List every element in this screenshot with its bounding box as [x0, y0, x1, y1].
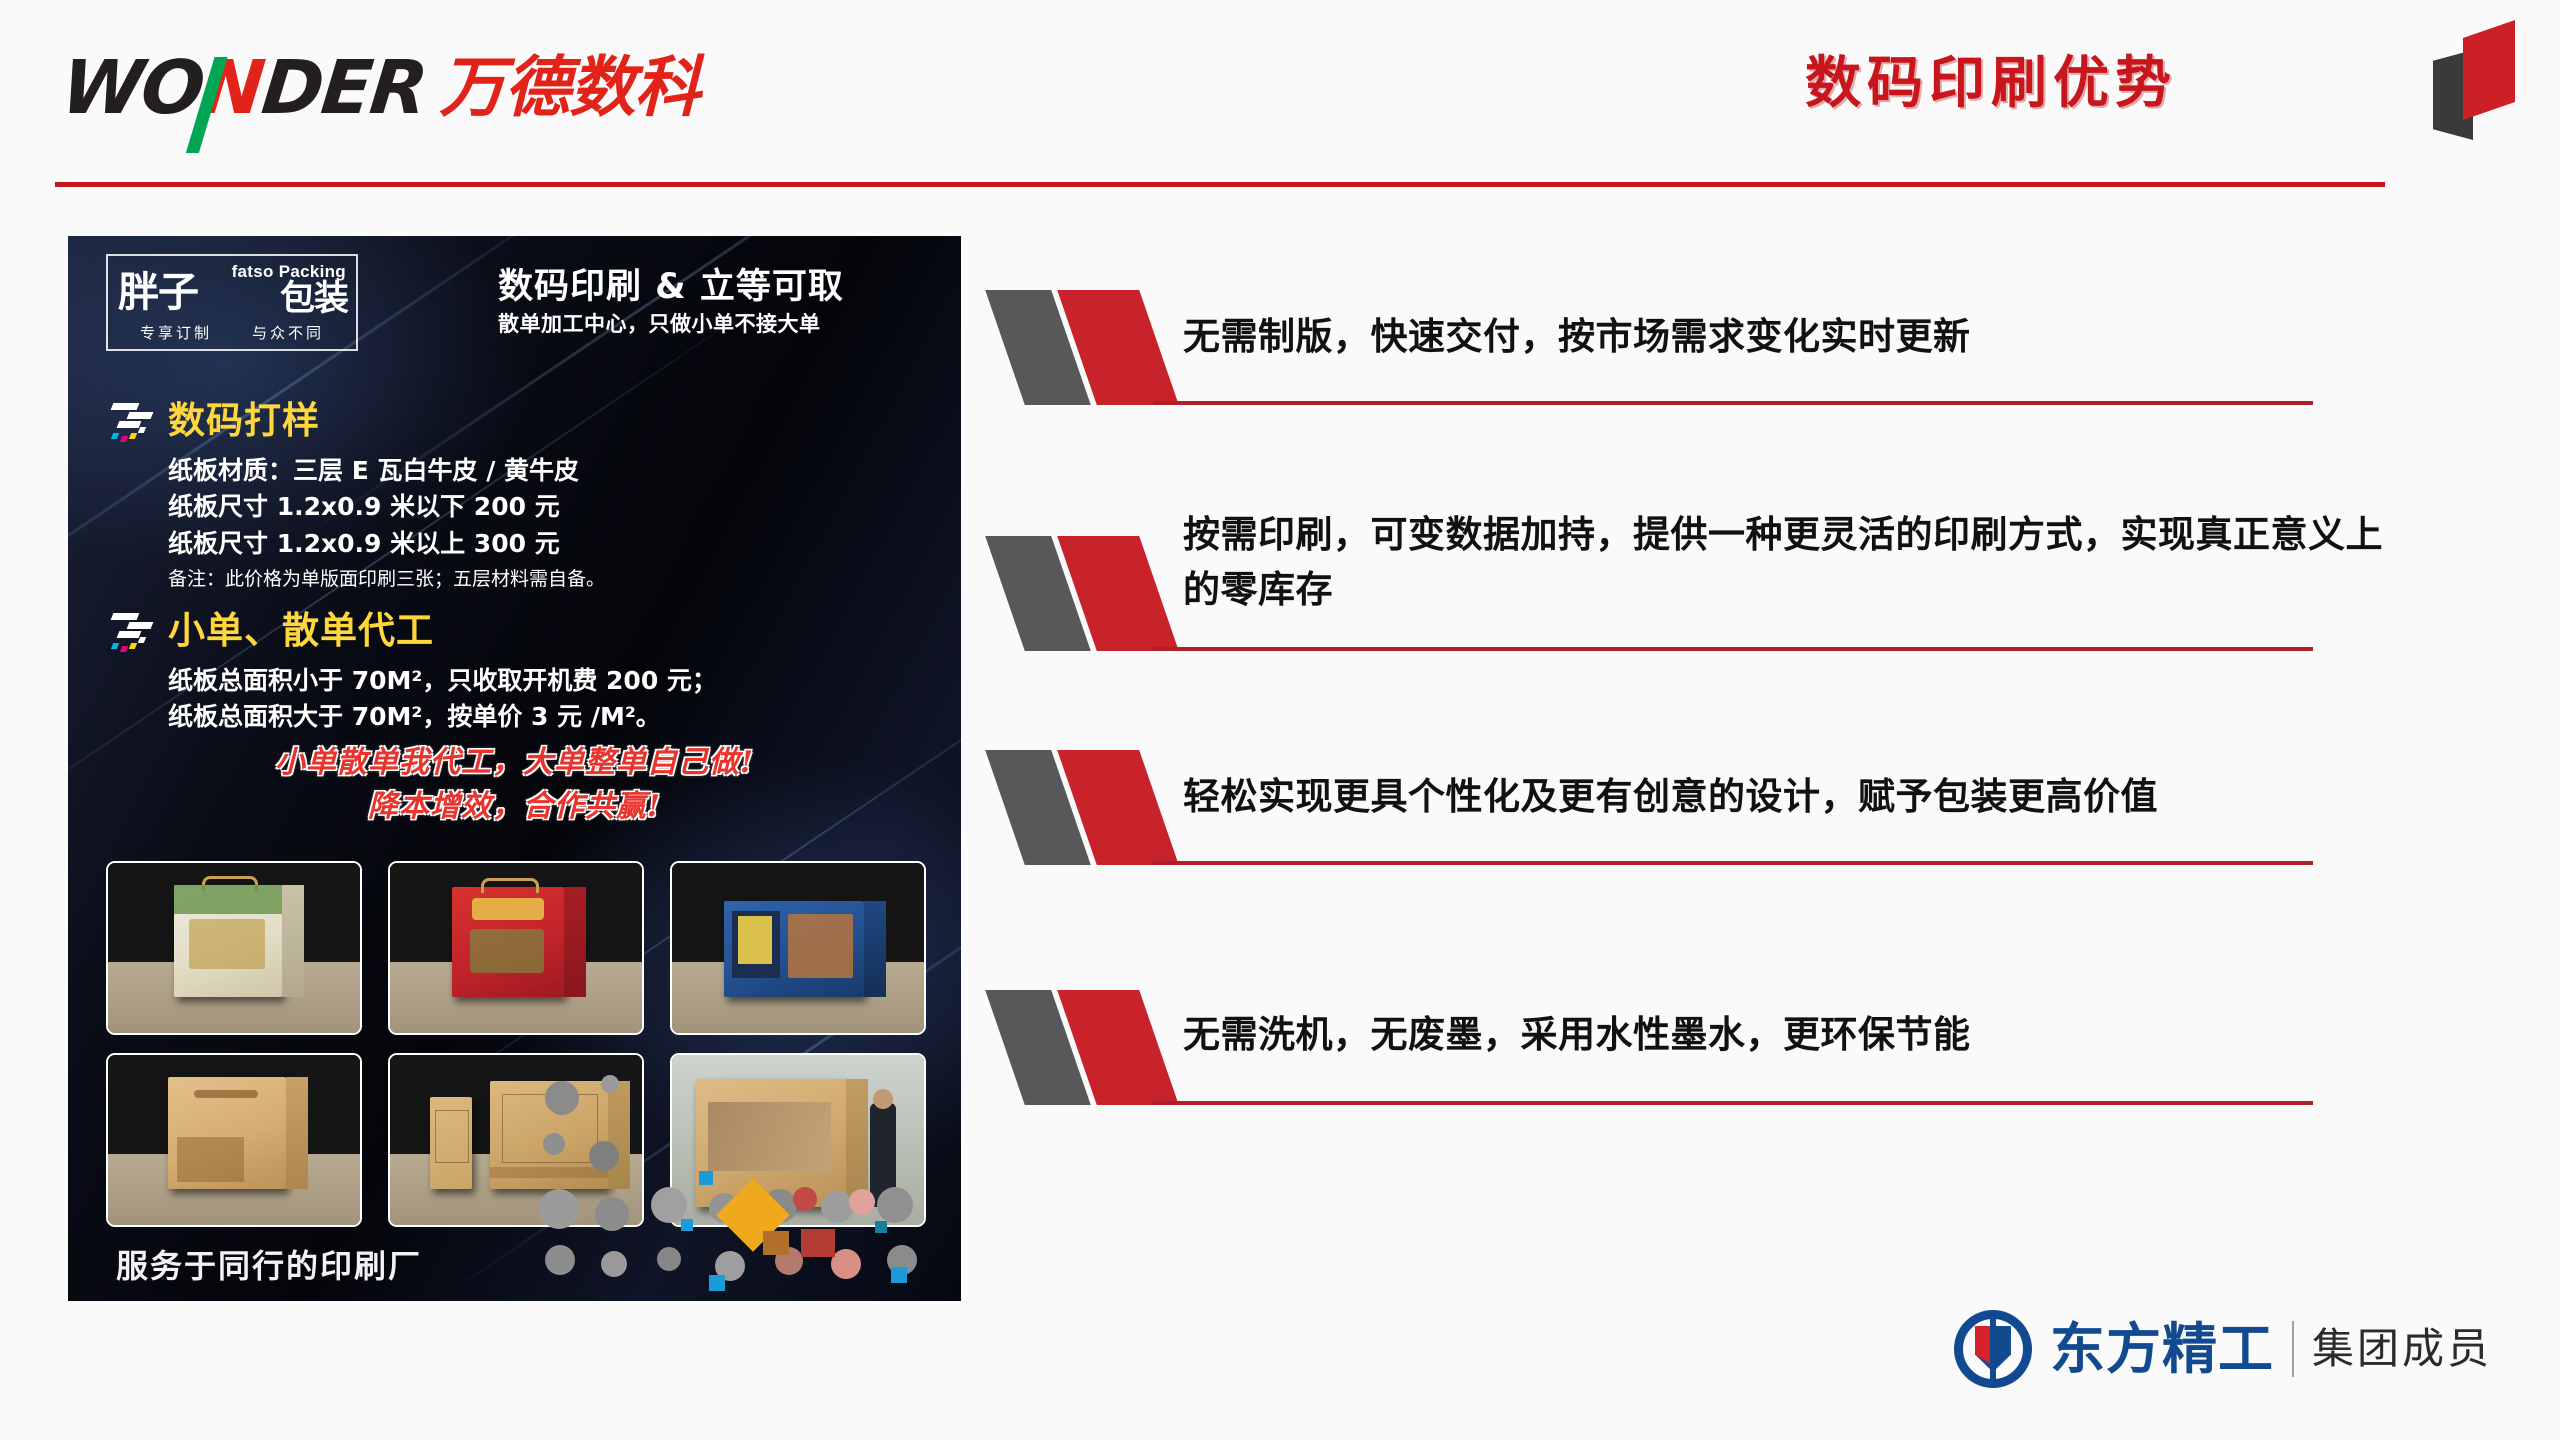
dongfang-emblem-icon [1954, 1310, 2032, 1388]
poster-tagline-right: 与众不同 [252, 322, 324, 343]
double-slash-marker-icon [1005, 750, 1175, 865]
advantage-underline [1153, 1101, 2313, 1105]
wonder-wo: WO [57, 45, 207, 131]
footer-member-label: 集团成员 [2312, 1328, 2492, 1370]
poster-slogan-line1: 小单散单我代工，大单整单自己做! [68, 741, 961, 785]
poster-brand-taglines: 专享订制 与众不同 [108, 322, 356, 343]
poster-section-body: 纸板总面积小于 70M²，只收取开机费 200 元； 纸板总面积大于 70M²，… [168, 663, 717, 736]
poster-footer-text: 服务于同行的印刷厂 [116, 1241, 422, 1287]
advantages-list: 无需制版，快速交付，按市场需求变化实时更新 按需印刷，可变数据加持，提供一种更灵… [1005, 270, 2465, 1190]
footer-divider [2292, 1321, 2294, 1377]
poster-brand-cn2: 包装 [280, 282, 348, 317]
poster-section-line: 纸板尺寸 1.2x0.9 米以下 200 元 [168, 489, 605, 525]
group-member-logo: 东方精工 集团成员 [1954, 1306, 2492, 1392]
advantage-item: 按需印刷，可变数据加持，提供一种更灵活的印刷方式，实现真正意义上的零库存 [1005, 500, 2465, 730]
corner-mark-red-panel [2463, 20, 2515, 120]
advantage-text: 按需印刷，可变数据加持，提供一种更灵活的印刷方式，实现真正意义上的零库存 [1183, 508, 2383, 618]
yellow-dot-icon [129, 433, 137, 439]
poster-subheadline: 散单加工中心，只做小单不接大单 [498, 308, 821, 338]
advantage-underline [1153, 861, 2313, 865]
header-divider [55, 182, 2385, 187]
double-slash-marker-icon [1005, 290, 1175, 405]
double-slash-marker-icon [1005, 990, 1175, 1105]
slide-header: WONDER 万德数科 数码印刷优势 [0, 0, 2560, 200]
poster-section-note: 备注：此价格为单版面印刷三张；五层材料需自备。 [168, 565, 605, 594]
wonder-der: DER [258, 45, 430, 131]
white-dot-icon [138, 427, 146, 433]
advantage-text: 无需制版，快速交付，按市场需求变化实时更新 [1183, 310, 2383, 365]
advantage-item: 无需洗机，无废墨，采用水性墨水，更环保节能 [1005, 960, 2465, 1190]
wonder-chinese-name: 万德数科 [439, 55, 699, 121]
poster-tagline-left: 专享订制 [140, 322, 212, 343]
magenta-dot-icon [120, 646, 128, 652]
advantage-item: 无需制版，快速交付，按市场需求变化实时更新 [1005, 270, 2465, 500]
advantage-item: 轻松实现更具个性化及更有创意的设计，赋予包装更高价值 [1005, 730, 2465, 960]
arrow-chevron-icon [106, 613, 162, 665]
poster-brand-box: 胖子 fatso Packing 包装 专享订制 与众不同 [106, 254, 358, 351]
wonder-wordmark: WONDER [58, 51, 429, 125]
white-dot-icon [138, 637, 146, 643]
poster-photo [670, 861, 926, 1035]
advantage-underline [1153, 647, 2313, 651]
corner-page-mark-icon [2425, 5, 2535, 165]
poster-section-line: 纸板总面积大于 70M²，按单价 3 元 /M²。 [168, 699, 717, 735]
poster-halftone-pattern [531, 1071, 961, 1301]
poster-photo [388, 861, 644, 1035]
arrow-chevron-icon [106, 403, 162, 455]
poster-section-line: 纸板材质：三层 E 瓦白牛皮 / 黄牛皮 [168, 453, 605, 489]
poster-section-title: 小单、散单代工 [168, 611, 434, 652]
page-title: 数码印刷优势 [1805, 38, 2177, 119]
promo-poster-image: 胖子 fatso Packing 包装 专享订制 与众不同 数码印刷 & 立等可… [68, 236, 961, 1301]
advantage-underline [1153, 401, 2313, 405]
poster-photo [106, 861, 362, 1035]
double-slash-marker-icon [1005, 536, 1175, 651]
footer-company-name: 东方精工 [2050, 1322, 2274, 1377]
magenta-dot-icon [120, 436, 128, 442]
poster-photo [106, 1053, 362, 1227]
cyan-dot-icon [111, 433, 119, 439]
poster-slogan: 小单散单我代工，大单整单自己做! 降本增效，合作共赢! [68, 741, 961, 828]
poster-section-line: 纸板总面积小于 70M²，只收取开机费 200 元； [168, 663, 717, 699]
cyan-dot-icon [111, 643, 119, 649]
poster-section-body: 纸板材质：三层 E 瓦白牛皮 / 黄牛皮 纸板尺寸 1.2x0.9 米以下 20… [168, 453, 605, 593]
advantage-text: 轻松实现更具个性化及更有创意的设计，赋予包装更高价值 [1183, 770, 2383, 825]
poster-brand-cn: 胖子 [118, 272, 198, 313]
wonder-logo: WONDER 万德数科 [62, 52, 699, 124]
poster-slogan-line2: 降本增效，合作共赢! [68, 785, 961, 829]
poster-section-title: 数码打样 [168, 401, 320, 442]
poster-section-line: 纸板尺寸 1.2x0.9 米以上 300 元 [168, 526, 605, 562]
yellow-dot-icon [129, 643, 137, 649]
poster-headline: 数码印刷 & 立等可取 [498, 258, 844, 309]
advantage-text: 无需洗机，无废墨，采用水性墨水，更环保节能 [1183, 1008, 2383, 1063]
